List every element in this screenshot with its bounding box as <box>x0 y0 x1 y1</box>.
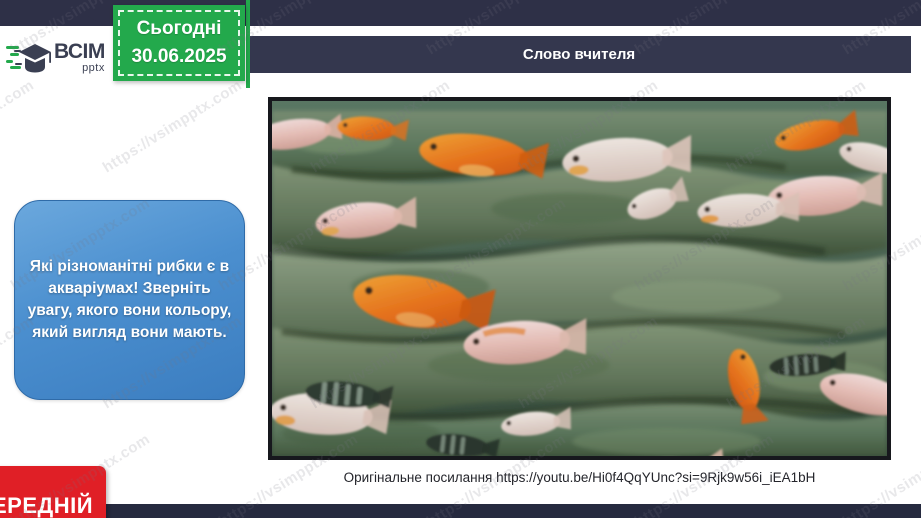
slide-header-bar: Слово вчителя <box>247 36 911 73</box>
level-badge: ЕРЕДНІЙ <box>0 466 106 518</box>
date-badge: Сьогодні 30.06.2025 <box>113 5 245 81</box>
brand-logo: ВСІМ pptx <box>0 26 114 89</box>
logo-title: ВСІМ <box>54 41 105 62</box>
top-left-frame-strip <box>0 0 8 26</box>
source-caption: Оригінальне посилання https://youtu.be/H… <box>268 470 891 485</box>
graduation-cap-icon <box>6 40 52 76</box>
aquarium-video-frame[interactable] <box>268 97 891 460</box>
bottom-frame-strip <box>0 504 921 518</box>
logo-subtitle: pptx <box>54 63 105 74</box>
page-title: Слово вчителя <box>523 46 635 63</box>
watermark-text: https://vsimpptx.com <box>100 77 245 177</box>
logo-wordmark: ВСІМ pptx <box>54 41 105 74</box>
green-accent-bar <box>246 0 250 88</box>
date-badge-label: Сьогодні <box>137 15 222 43</box>
teacher-prompt-bubble: Які різноманітні рибки є в акваріумах! З… <box>14 200 245 400</box>
level-badge-text: ЕРЕДНІЙ <box>0 493 93 518</box>
slide-canvas: ВСІМ pptx Сьогодні 30.06.2025 Слово вчит… <box>0 0 921 518</box>
date-badge-value: 30.06.2025 <box>131 43 226 71</box>
teacher-prompt-text: Які різноманітні рибки є в акваріумах! З… <box>27 256 232 344</box>
aquarium-image <box>272 101 887 456</box>
watermark-text: https://vsimpptx.com <box>0 77 37 177</box>
